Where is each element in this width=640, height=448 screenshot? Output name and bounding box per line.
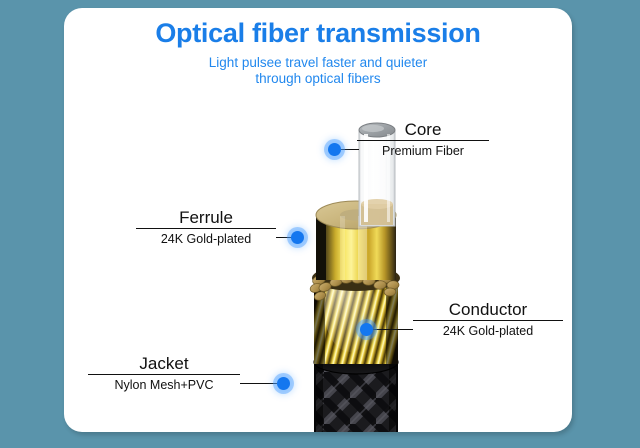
callout-core-detail: Premium Fiber: [357, 141, 489, 159]
callout-jacket-label: Jacket: [88, 354, 240, 374]
callout-conductor: Conductor 24K Gold-plated: [413, 300, 563, 339]
content-card: Optical fiber transmission Light pulsee …: [64, 8, 572, 432]
leader-line-core: [339, 149, 359, 150]
callout-core: Core Premium Fiber: [357, 120, 489, 159]
screenshot-stage: Optical fiber transmission Light pulsee …: [0, 0, 640, 448]
callout-core-label: Core: [357, 120, 489, 140]
marker-dot-ferrule[interactable]: [291, 231, 304, 244]
callout-ferrule-label: Ferrule: [136, 208, 276, 228]
marker-dot-jacket[interactable]: [277, 377, 290, 390]
leader-line-jacket: [240, 383, 282, 384]
callout-ferrule-detail: 24K Gold-plated: [136, 229, 276, 247]
callout-conductor-detail: 24K Gold-plated: [413, 321, 563, 339]
callout-jacket: Jacket Nylon Mesh+PVC: [88, 354, 240, 393]
marker-dot-core[interactable]: [328, 143, 341, 156]
marker-dot-conductor[interactable]: [360, 323, 373, 336]
callout-conductor-label: Conductor: [413, 300, 563, 320]
callout-jacket-detail: Nylon Mesh+PVC: [88, 375, 240, 393]
leader-line-conductor: [367, 329, 413, 330]
callout-ferrule: Ferrule 24K Gold-plated: [136, 208, 276, 247]
